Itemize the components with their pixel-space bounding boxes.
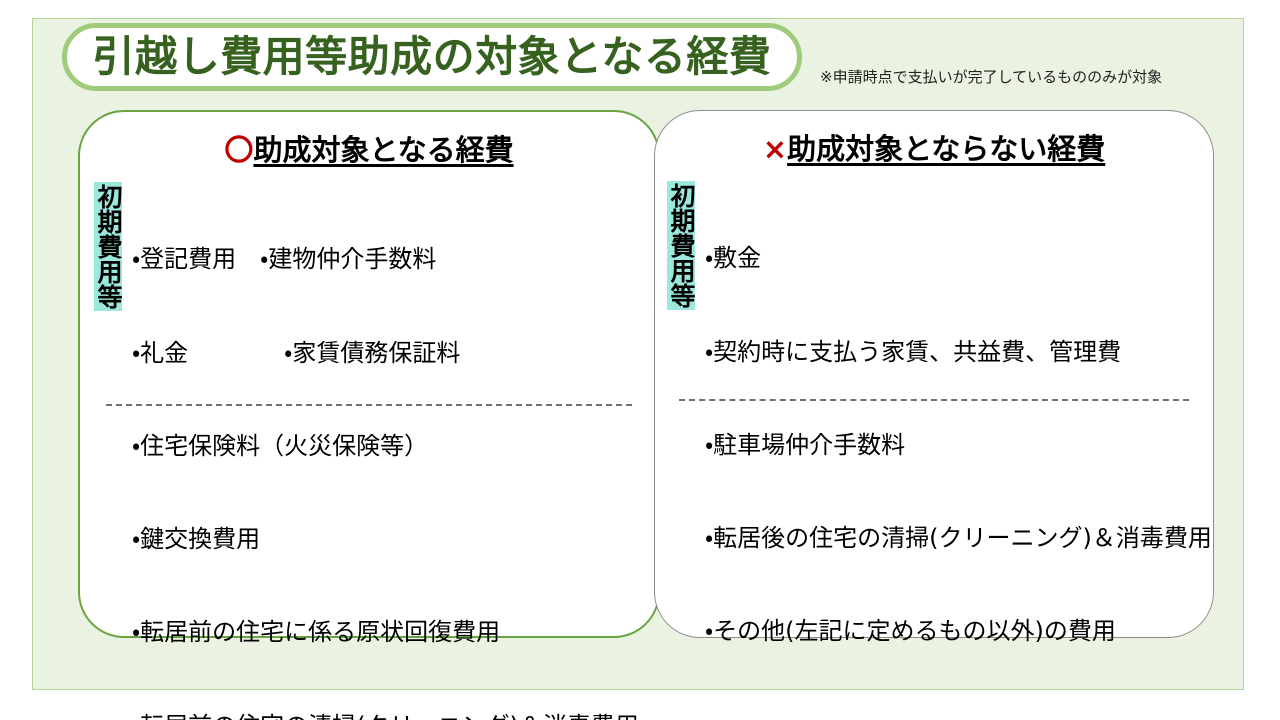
ineligible-heading-text: 助成対象とならない経費 [787, 132, 1105, 166]
list-item: ・礼金 ・家賃債務保証料 [132, 338, 658, 369]
ineligible-initial-cost-section: 初期費用等 ・敷金 ・契約時に支払う家賃、共益費、管理費 ・駐車場仲介手数料 ・… [655, 167, 1213, 709]
eligible-initial-cost-items: ・登記費用 ・建物仲介手数料 ・礼金 ・家賃債務保証料 ・住宅保険料（火災保険等… [132, 182, 658, 720]
ineligible-initial-cost-items: ・敷金 ・契約時に支払う家賃、共益費、管理費 ・駐車場仲介手数料 ・転居後の住宅… [705, 181, 1213, 709]
list-item: ・転居前の住宅に係る原状回復費用 [132, 617, 658, 648]
list-item: ・鍵交換費用 [132, 524, 658, 555]
list-item: ・転居前の住宅の清掃(クリーニング)＆消毒費用 [132, 711, 658, 720]
ineligible-expenses-card: ×助成対象とならない経費 初期費用等 ・敷金 ・契約時に支払う家賃、共益費、管理… [654, 110, 1214, 638]
cross-mark-icon: × [763, 132, 787, 166]
list-item: ・転居後の住宅の清掃(クリーニング)＆消毒費用 [705, 523, 1213, 554]
list-item: ・敷金 [705, 243, 1213, 274]
eligible-section-divider [106, 404, 632, 406]
list-item: ・住宅保険料（火災保険等） [132, 431, 658, 462]
eligible-card-heading: 〇助成対象となる経費 [80, 132, 658, 168]
list-item: ・契約時に支払う家賃、共益費、管理費 [705, 337, 1213, 368]
vertical-label-initial-cost: 初期費用等 [94, 182, 122, 311]
ineligible-moving-cost-section: 引越し費用 ・引越し業者等が行う消毒 又はハウスクリーニングに係る費用 ・公共料… [655, 710, 1213, 720]
list-item: ・その他(左記に定めるもの以外)の費用 [705, 616, 1213, 647]
ineligible-section-divider [679, 399, 1189, 401]
list-item: ・登記費用 ・建物仲介手数料 [132, 244, 658, 275]
eligible-initial-cost-section: 初期費用等 ・登記費用 ・建物仲介手数料 ・礼金 ・家賃債務保証料 ・住宅保険料… [80, 168, 658, 720]
slide-title-pill: 引越し費用等助成の対象となる経費 [62, 23, 802, 91]
vertical-label-initial-cost: 初期費用等 [667, 181, 695, 310]
circle-mark-icon: 〇 [224, 133, 253, 167]
eligible-expenses-card: 〇助成対象となる経費 初期費用等 ・登記費用 ・建物仲介手数料 ・礼金 ・家賃債… [78, 110, 660, 638]
list-item: ・駐車場仲介手数料 [705, 430, 1213, 461]
eligible-heading-text: 助成対象となる経費 [253, 133, 513, 167]
slide-canvas: 引越し費用等助成の対象となる経費 ※申請時点で支払いが完了しているもののみが対象… [0, 0, 1280, 720]
eligibility-note: ※申請時点で支払いが完了しているもののみが対象 [820, 66, 1162, 87]
page-title: 引越し費用等助成の対象となる経費 [93, 36, 772, 78]
ineligible-card-heading: ×助成対象とならない経費 [655, 131, 1213, 167]
